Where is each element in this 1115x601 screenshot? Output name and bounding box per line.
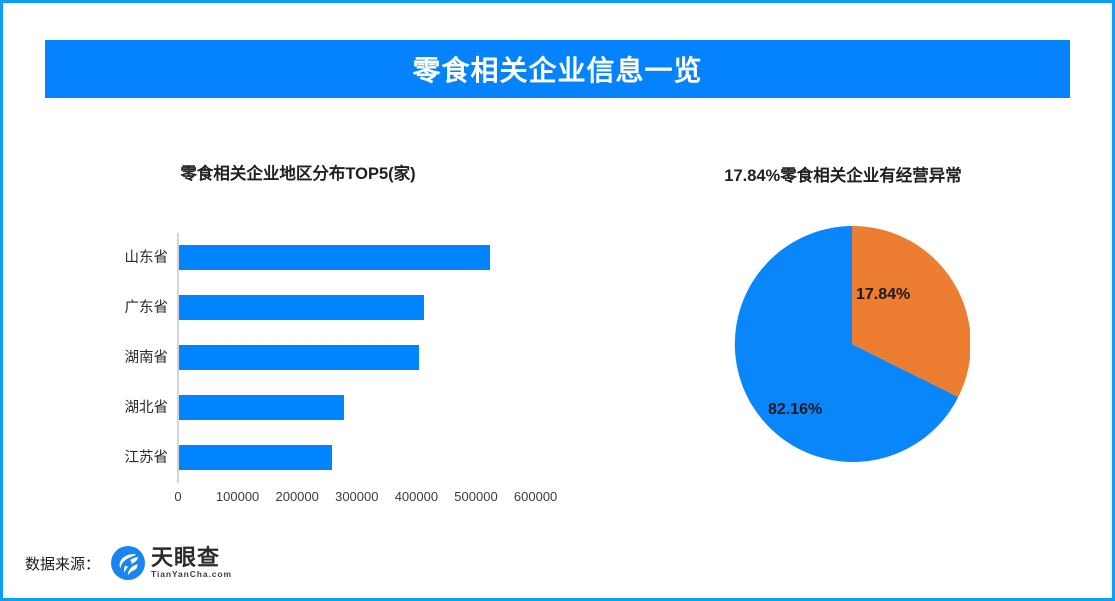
- x-axis-tick: 200000: [275, 489, 318, 504]
- x-axis-tick: 500000: [454, 489, 497, 504]
- bar-row: 山东省: [48, 233, 588, 283]
- x-axis-tick: 300000: [335, 489, 378, 504]
- logo-domain: TianYanCha.com: [151, 569, 232, 579]
- x-axis-tick: 100000: [216, 489, 259, 504]
- pie-chart-plot-area: [734, 226, 970, 462]
- bar-chart-x-axis: 0 100000 200000 300000 400000 500000 600…: [48, 489, 588, 511]
- x-axis-tick: 400000: [395, 489, 438, 504]
- bar-rect[interactable]: [179, 245, 491, 270]
- infographic-page: 零食相关企业信息一览 零食相关企业地区分布TOP5(家) 山东省 广东省 湖南省…: [0, 0, 1115, 601]
- x-axis-tick: 0: [174, 489, 181, 504]
- bar-category-label: 山东省: [48, 246, 168, 267]
- bar-chart-plot-area: 山东省 广东省 湖南省 湖北省 江苏省: [48, 233, 588, 483]
- bar-row: 江苏省: [48, 433, 588, 483]
- tianyancha-aperture-icon: [110, 545, 146, 581]
- pie-chart-title: 17.84%零食相关企业有经营异常: [603, 162, 1083, 186]
- logo-text: 天眼查 TianYanCha.com: [151, 547, 232, 580]
- pie-chart-svg: [734, 226, 970, 462]
- pie-label-abnormal: 17.84%: [856, 286, 910, 304]
- page-title: 零食相关企业信息一览: [412, 49, 702, 89]
- header-banner: 零食相关企业信息一览: [45, 40, 1070, 98]
- bar-rect[interactable]: [179, 295, 425, 320]
- logo-wordmark: 天眼查: [151, 547, 232, 569]
- x-axis-tick: 600000: [514, 489, 557, 504]
- data-source-label: 数据来源：: [25, 553, 100, 574]
- bar-category-label: 广东省: [48, 296, 168, 317]
- bar-chart-panel: 零食相关企业地区分布TOP5(家) 山东省 广东省 湖南省 湖北省 江苏省: [48, 143, 588, 523]
- bar-row: 湖北省: [48, 383, 588, 433]
- bar-row: 湖南省: [48, 333, 588, 383]
- tianyancha-logo[interactable]: 天眼查 TianYanCha.com: [110, 545, 232, 581]
- bar-category-label: 湖北省: [48, 396, 168, 417]
- bar-chart-title: 零食相关企业地区分布TOP5(家): [48, 160, 548, 184]
- footer: 数据来源： 天眼查 TianYanCha.com: [25, 541, 232, 585]
- pie-chart-panel: 17.84%零食相关企业有经营异常: [603, 143, 1083, 523]
- bar-category-label: 江苏省: [48, 446, 168, 467]
- pie-label-normal: 82.16%: [768, 401, 822, 419]
- bar-rect[interactable]: [179, 445, 333, 470]
- bar-rect[interactable]: [179, 395, 345, 420]
- bar-category-label: 湖南省: [48, 346, 168, 367]
- bar-rect[interactable]: [179, 345, 419, 370]
- bar-row: 广东省: [48, 283, 588, 333]
